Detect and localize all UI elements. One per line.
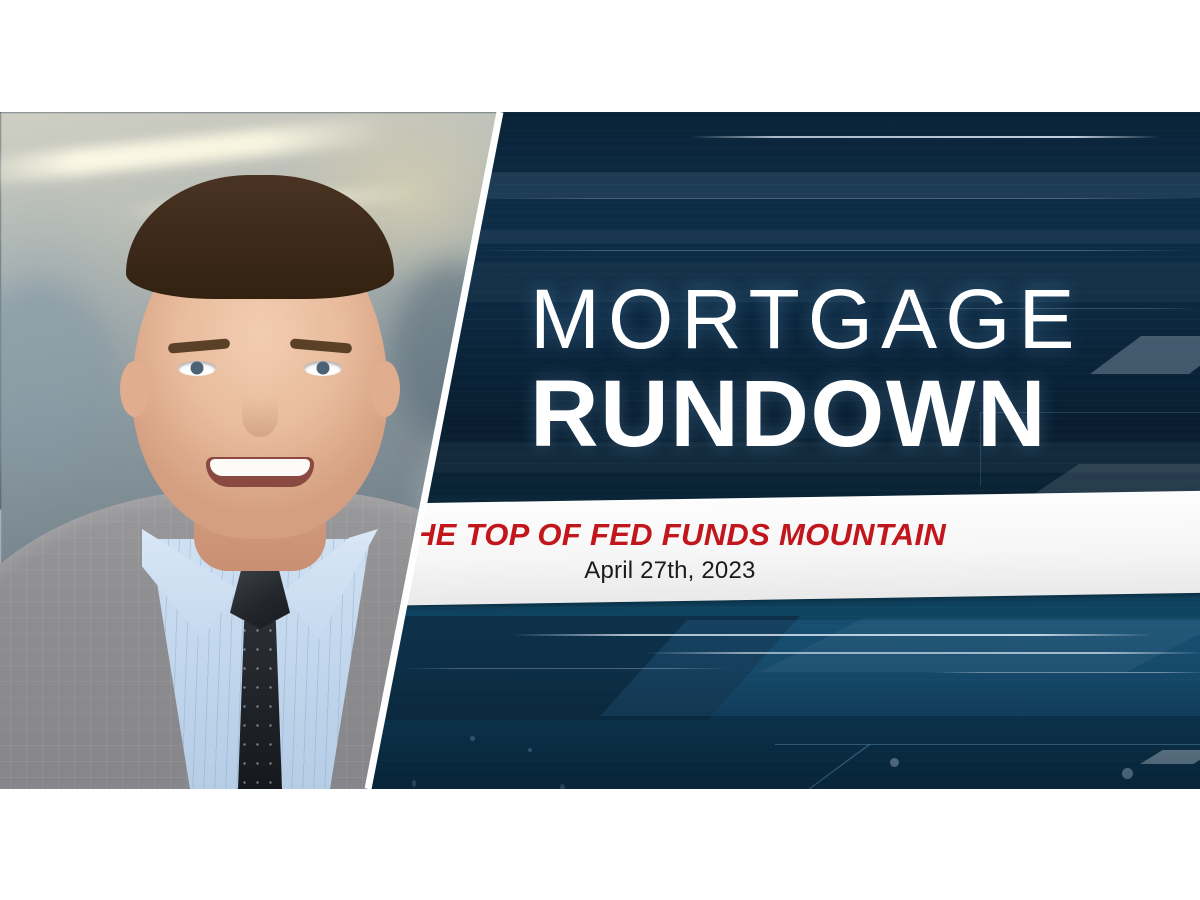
eye-left	[178, 361, 216, 376]
horizontal-accent-rule	[455, 198, 1200, 199]
title-line-one: MORTGAGE	[530, 278, 1170, 360]
episode-subtitle: THE TOP OF FED FUNDS MOUNTAIN	[394, 519, 946, 550]
ear-left	[120, 361, 150, 417]
horizontal-accent-rule	[690, 136, 1160, 138]
episode-date: April 27th, 2023	[584, 559, 755, 583]
nose	[242, 397, 278, 437]
mortgage-rundown-banner: MORTGAGE RUNDOWN THE TOP OF FED FUNDS MO…	[0, 112, 1200, 789]
banner-stage: MORTGAGE RUNDOWN THE TOP OF FED FUNDS MO…	[0, 0, 1200, 900]
eye-right	[304, 361, 342, 376]
horizontal-accent-rule	[645, 652, 1200, 654]
title-line-two: RUNDOWN	[530, 366, 1170, 463]
title-block: MORTGAGE RUNDOWN	[530, 278, 1170, 463]
eyebrow-right	[290, 338, 353, 353]
teeth	[210, 459, 309, 476]
eyebrow-left	[168, 338, 231, 353]
necktie-dot-pattern	[238, 621, 282, 789]
horizontal-accent-rule	[512, 634, 1152, 636]
horizontal-accent-rule	[470, 250, 1200, 251]
necktie-body	[238, 621, 282, 789]
smiling-mouth	[206, 457, 314, 487]
ear-right	[370, 361, 400, 417]
